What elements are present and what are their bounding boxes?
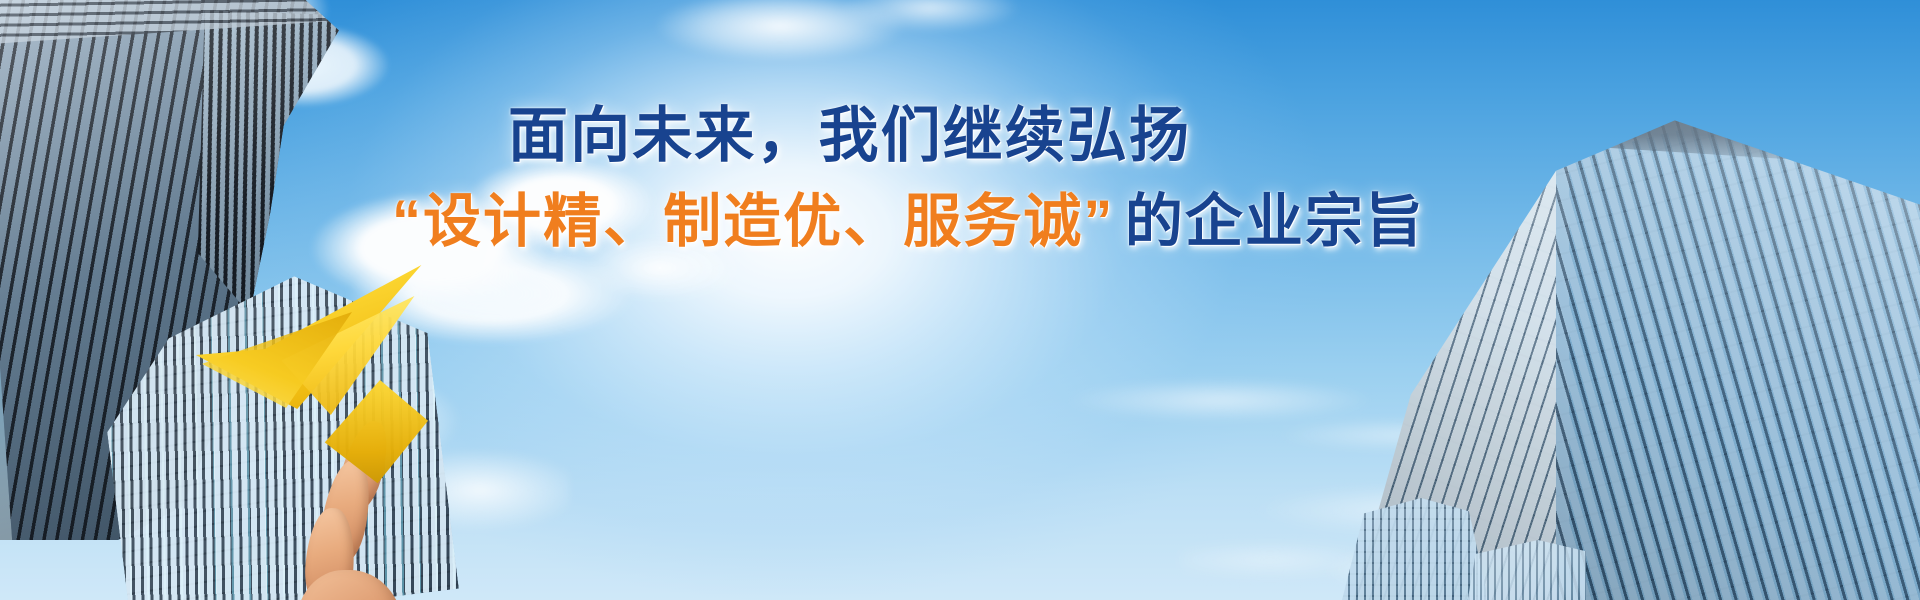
distant-building-one xyxy=(1340,498,1490,600)
headline-motto-quoted: “设计精、制造优、服务诚” xyxy=(392,189,1114,254)
hero-banner: 面向未来，我们继续弘扬 “设计精、制造优、服务诚”的企业宗旨 xyxy=(0,0,1920,600)
headline-motto-suffix: 的企业宗旨 xyxy=(1125,189,1425,254)
headline-line-2: “设计精、制造优、服务诚”的企业宗旨 xyxy=(392,192,1425,253)
cloud-top-center xyxy=(600,0,1020,110)
headline-line-1: 面向未来，我们继续弘扬 xyxy=(508,104,1191,167)
paper-airplane-group xyxy=(196,262,466,512)
